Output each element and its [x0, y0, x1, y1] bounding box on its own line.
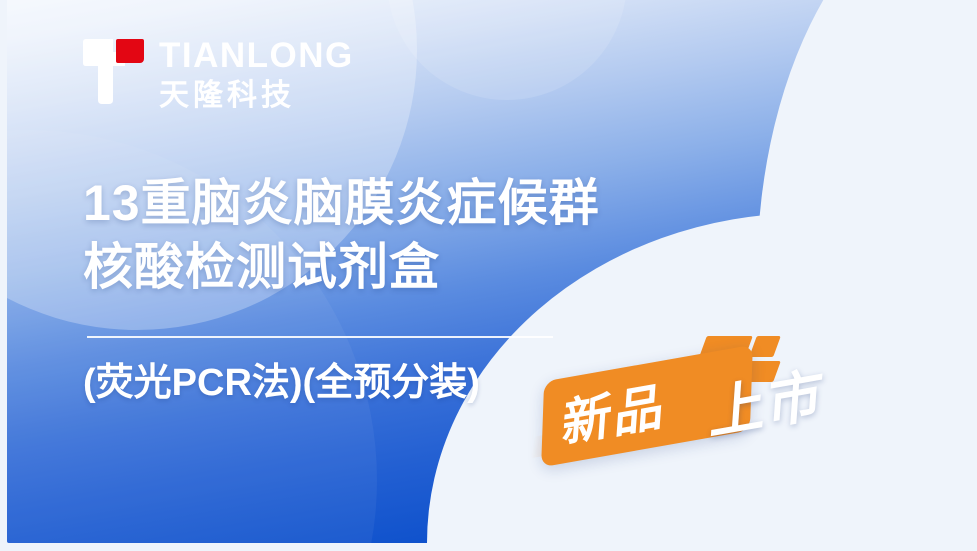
new-product-badge: 新品 上市: [519, 330, 899, 490]
product-headline: 13重脑炎脑膜炎症候群 核酸检测试剂盒: [83, 172, 600, 299]
headline-line-2: 核酸检测试剂盒: [83, 236, 600, 300]
tianlong-mark-icon: [83, 36, 145, 106]
tianlong-mark-red-square: [116, 39, 144, 63]
product-launch-banner: TIANLONG 天隆科技 13重脑炎脑膜炎症候群 核酸检测试剂盒 (荧光PCR…: [0, 0, 977, 551]
brand-name-en: TIANLONG: [159, 38, 354, 73]
arrow-block-2: [749, 336, 781, 357]
brand-name-cn: 天隆科技: [159, 81, 354, 111]
brand-wordmark: TIANLONG 天隆科技: [159, 36, 354, 111]
decorative-circle-top-right: [387, 0, 627, 100]
headline-line-1: 13重脑炎脑膜炎症候群: [83, 172, 600, 236]
brand-logo: TIANLONG 天隆科技: [83, 36, 354, 111]
product-subtitle: (荧光PCR法)(全预分装): [83, 360, 480, 408]
blue-gradient-panel: TIANLONG 天隆科技 13重脑炎脑膜炎症候群 核酸检测试剂盒 (荧光PCR…: [7, 0, 937, 543]
headline-divider: [87, 336, 553, 338]
